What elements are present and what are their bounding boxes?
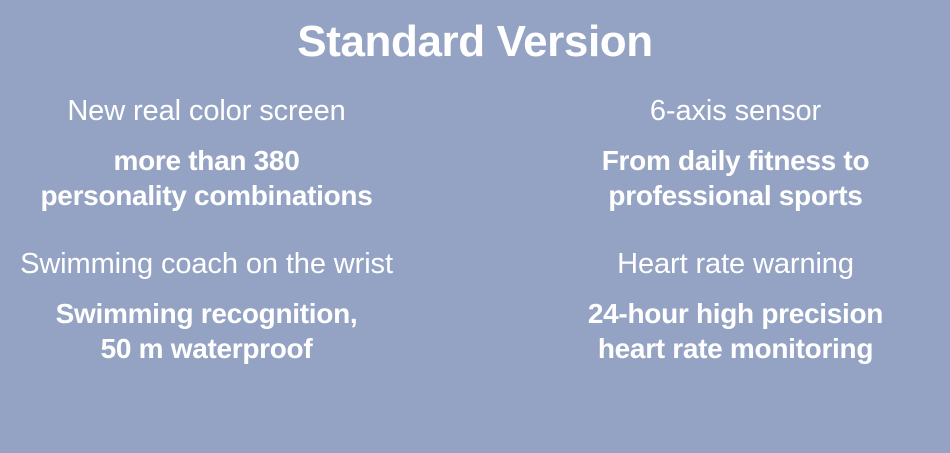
feature-body: Swimming recognition, 50 m waterproof: [56, 296, 358, 366]
feature-block-6-axis-sensor: 6-axis sensor From daily fitness to prof…: [475, 92, 950, 245]
feature-body-line-1: more than 380: [41, 143, 373, 178]
standard-version-poster: Standard Version New real color screen m…: [0, 0, 950, 453]
feature-body-line-2: 50 m waterproof: [56, 331, 358, 366]
feature-body-line-2: heart rate monitoring: [588, 331, 883, 366]
feature-heading: New real color screen: [67, 92, 345, 130]
feature-body-line-1: 24-hour high precision: [588, 296, 883, 331]
feature-block-color-screen: New real color screen more than 380 pers…: [0, 92, 475, 245]
feature-grid: New real color screen more than 380 pers…: [0, 92, 950, 397]
feature-body-line-1: From daily fitness to: [602, 143, 870, 178]
feature-body: 24-hour high precision heart rate monito…: [588, 296, 883, 366]
feature-heading: 6-axis sensor: [650, 92, 821, 130]
feature-body-line-2: professional sports: [602, 178, 870, 213]
feature-body: more than 380 personality combinations: [41, 143, 373, 213]
feature-body-line-1: Swimming recognition,: [56, 296, 358, 331]
feature-heading: Heart rate warning: [617, 245, 854, 283]
feature-heading: Swimming coach on the wrist: [20, 245, 393, 283]
feature-block-swimming: Swimming coach on the wrist Swimming rec…: [0, 245, 475, 398]
feature-block-heart-rate: Heart rate warning 24-hour high precisio…: [475, 245, 950, 398]
page-title: Standard Version: [0, 14, 950, 70]
feature-body-line-2: personality combinations: [41, 178, 373, 213]
feature-body: From daily fitness to professional sport…: [602, 143, 870, 213]
